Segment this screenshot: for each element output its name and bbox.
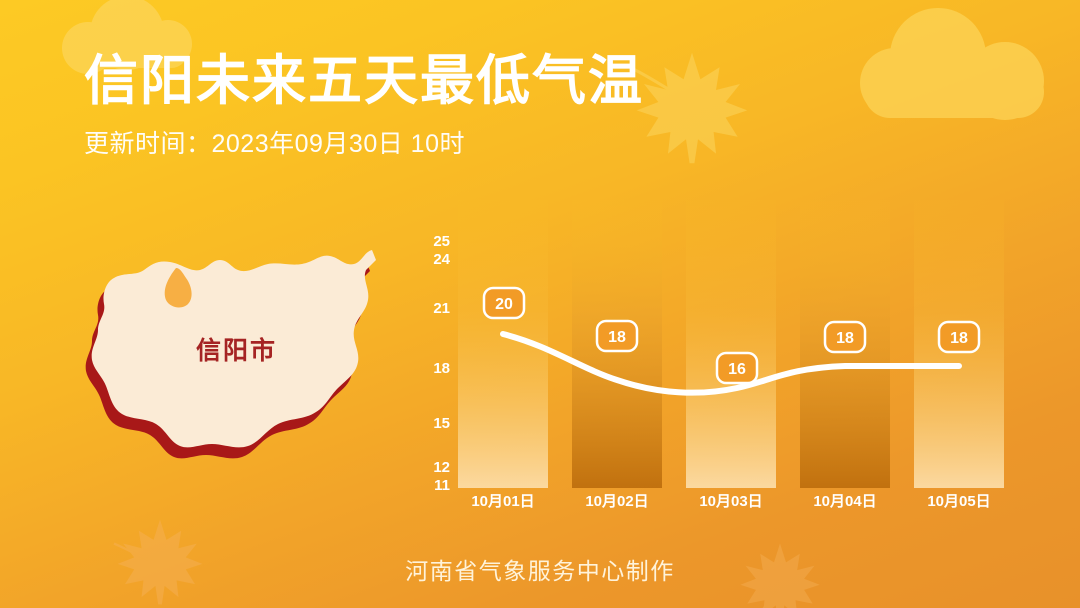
data-label-badge: 18 (597, 321, 637, 351)
y-tick-label: 15 (433, 415, 450, 432)
x-tick-label: 10月03日 (699, 493, 762, 510)
y-tick-label: 24 (433, 251, 450, 268)
data-label-badge: 20 (484, 288, 524, 318)
x-tick-label: 10月04日 (813, 493, 876, 510)
data-label-value: 16 (728, 361, 746, 378)
data-label-value: 18 (836, 330, 854, 347)
y-tick-label: 18 (433, 360, 450, 377)
weather-poster: 信阳未来五天最低气温 更新时间：2023年09月30日 10时 信阳市 (0, 0, 1080, 608)
y-tick-label: 12 (433, 459, 450, 476)
x-tick-label: 10月01日 (471, 493, 534, 510)
y-axis-ticks: 25 24 21 18 15 12 11 (433, 233, 450, 494)
data-label-badge: 18 (939, 322, 979, 352)
y-tick-label: 11 (434, 477, 450, 494)
temperature-line-chart: 25 24 21 18 15 12 11 20 18 16 (410, 196, 1030, 516)
data-label-badge: 18 (825, 322, 865, 352)
data-label-value: 18 (608, 329, 626, 346)
data-label-value: 18 (950, 330, 968, 347)
data-label-badge: 16 (717, 353, 757, 383)
x-tick-label: 10月02日 (585, 493, 648, 510)
cloud-icon-right (860, 8, 1060, 118)
maple-leaf-icon-title (628, 48, 756, 168)
footer-credit: 河南省气象服务中心制作 (0, 552, 1080, 586)
x-axis-ticks: 10月01日 10月02日 10月03日 10月04日 10月05日 (471, 493, 990, 510)
y-tick-label: 21 (433, 300, 450, 317)
update-time-label: 更新时间：2023年09月30日 10时 (84, 124, 644, 160)
y-tick-label: 25 (433, 233, 450, 250)
data-label-value: 20 (495, 296, 513, 313)
map-region-label: 信阳市 (196, 331, 277, 367)
x-tick-label: 10月05日 (927, 493, 990, 510)
page-title: 信阳未来五天最低气温 (84, 52, 644, 110)
header: 信阳未来五天最低气温 更新时间：2023年09月30日 10时 (84, 52, 644, 160)
